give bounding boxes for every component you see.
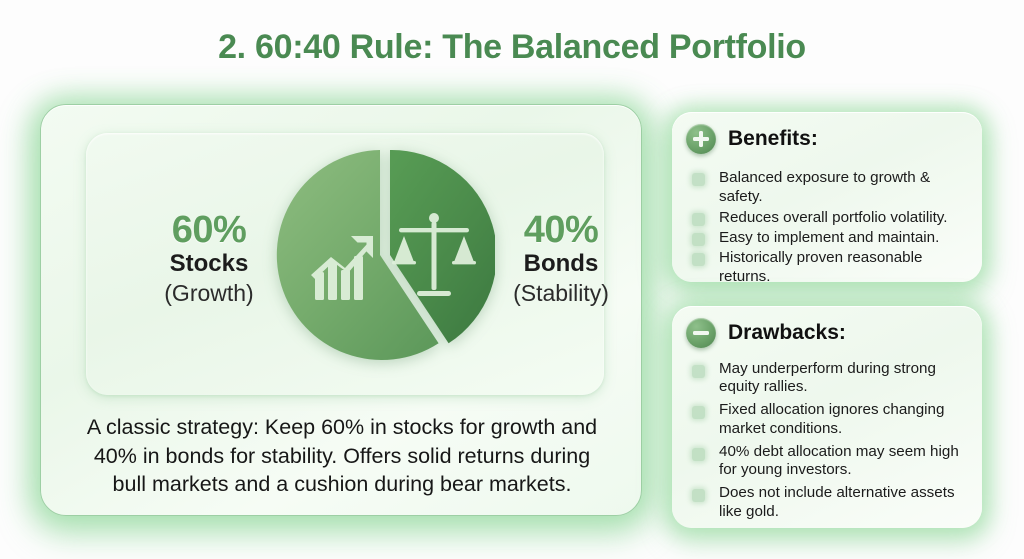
list-item-text: Does not include alternative assets like… xyxy=(719,484,970,520)
pie-panel: 60% Stocks (Growth) xyxy=(86,133,604,395)
bullet-icon xyxy=(692,365,705,378)
stocks-name: Stocks xyxy=(124,250,294,279)
benefits-card: Benefits: Balanced exposure to growth & … xyxy=(672,112,982,282)
bullet-icon xyxy=(692,489,705,502)
bonds-percent: 40% xyxy=(476,211,646,250)
drawbacks-title: Drawbacks: xyxy=(728,321,846,345)
bullet-icon xyxy=(692,233,705,246)
drawbacks-header: Drawbacks: xyxy=(686,318,846,348)
page-title: 2. 60:40 Rule: The Balanced Portfolio xyxy=(0,28,1024,67)
list-item: May underperform during strong equity ra… xyxy=(686,360,970,396)
bullet-icon xyxy=(692,448,705,461)
allocation-pie-chart xyxy=(273,144,495,366)
bullet-icon xyxy=(692,173,705,186)
list-item-text: Reduces overall portfolio volatility. xyxy=(719,208,947,227)
list-item: Balanced exposure to growth & safety. xyxy=(686,168,970,207)
stocks-label-group: 60% Stocks (Growth) xyxy=(124,211,294,307)
benefits-header: Benefits: xyxy=(686,124,818,154)
drawbacks-card: Drawbacks: May underperform during stron… xyxy=(672,306,982,528)
list-item: Does not include alternative assets like… xyxy=(686,484,970,520)
bonds-name: Bonds xyxy=(476,250,646,279)
list-item-text: Fixed allocation ignores changing market… xyxy=(719,401,970,437)
pie-svg xyxy=(273,144,495,366)
bonds-label-group: 40% Bonds (Stability) xyxy=(476,211,646,307)
strategy-caption: A classic strategy: Keep 60% in stocks f… xyxy=(83,413,601,499)
list-item-text: May underperform during strong equity ra… xyxy=(719,360,970,396)
list-item-text: Easy to implement and maintain. xyxy=(719,228,939,247)
list-item: Reduces overall portfolio volatility. xyxy=(686,208,970,227)
benefits-list: Balanced exposure to growth & safety. Re… xyxy=(686,168,970,288)
list-item: Easy to implement and maintain. xyxy=(686,228,970,247)
list-item: Fixed allocation ignores changing market… xyxy=(686,401,970,437)
stocks-percent: 60% xyxy=(124,211,294,250)
list-item-text: Balanced exposure to growth & safety. xyxy=(719,168,970,207)
main-allocation-card: 60% Stocks (Growth) xyxy=(40,104,642,516)
bullet-icon xyxy=(692,406,705,419)
drawbacks-list: May underperform during strong equity ra… xyxy=(686,360,970,526)
bullet-icon xyxy=(692,253,705,266)
list-item-text: Historically proven reasonable returns. xyxy=(719,248,970,287)
list-item-text: 40% debt allocation may seem high for yo… xyxy=(719,443,970,479)
bonds-note: (Stability) xyxy=(476,279,646,307)
benefits-title: Benefits: xyxy=(728,127,818,151)
infographic-stage: 2. 60:40 Rule: The Balanced Portfolio 60… xyxy=(0,0,1024,559)
bullet-icon xyxy=(692,213,705,226)
list-item: Historically proven reasonable returns. xyxy=(686,248,970,287)
minus-icon xyxy=(686,318,716,348)
stocks-note: (Growth) xyxy=(124,279,294,307)
list-item: 40% debt allocation may seem high for yo… xyxy=(686,443,970,479)
plus-icon xyxy=(686,124,716,154)
